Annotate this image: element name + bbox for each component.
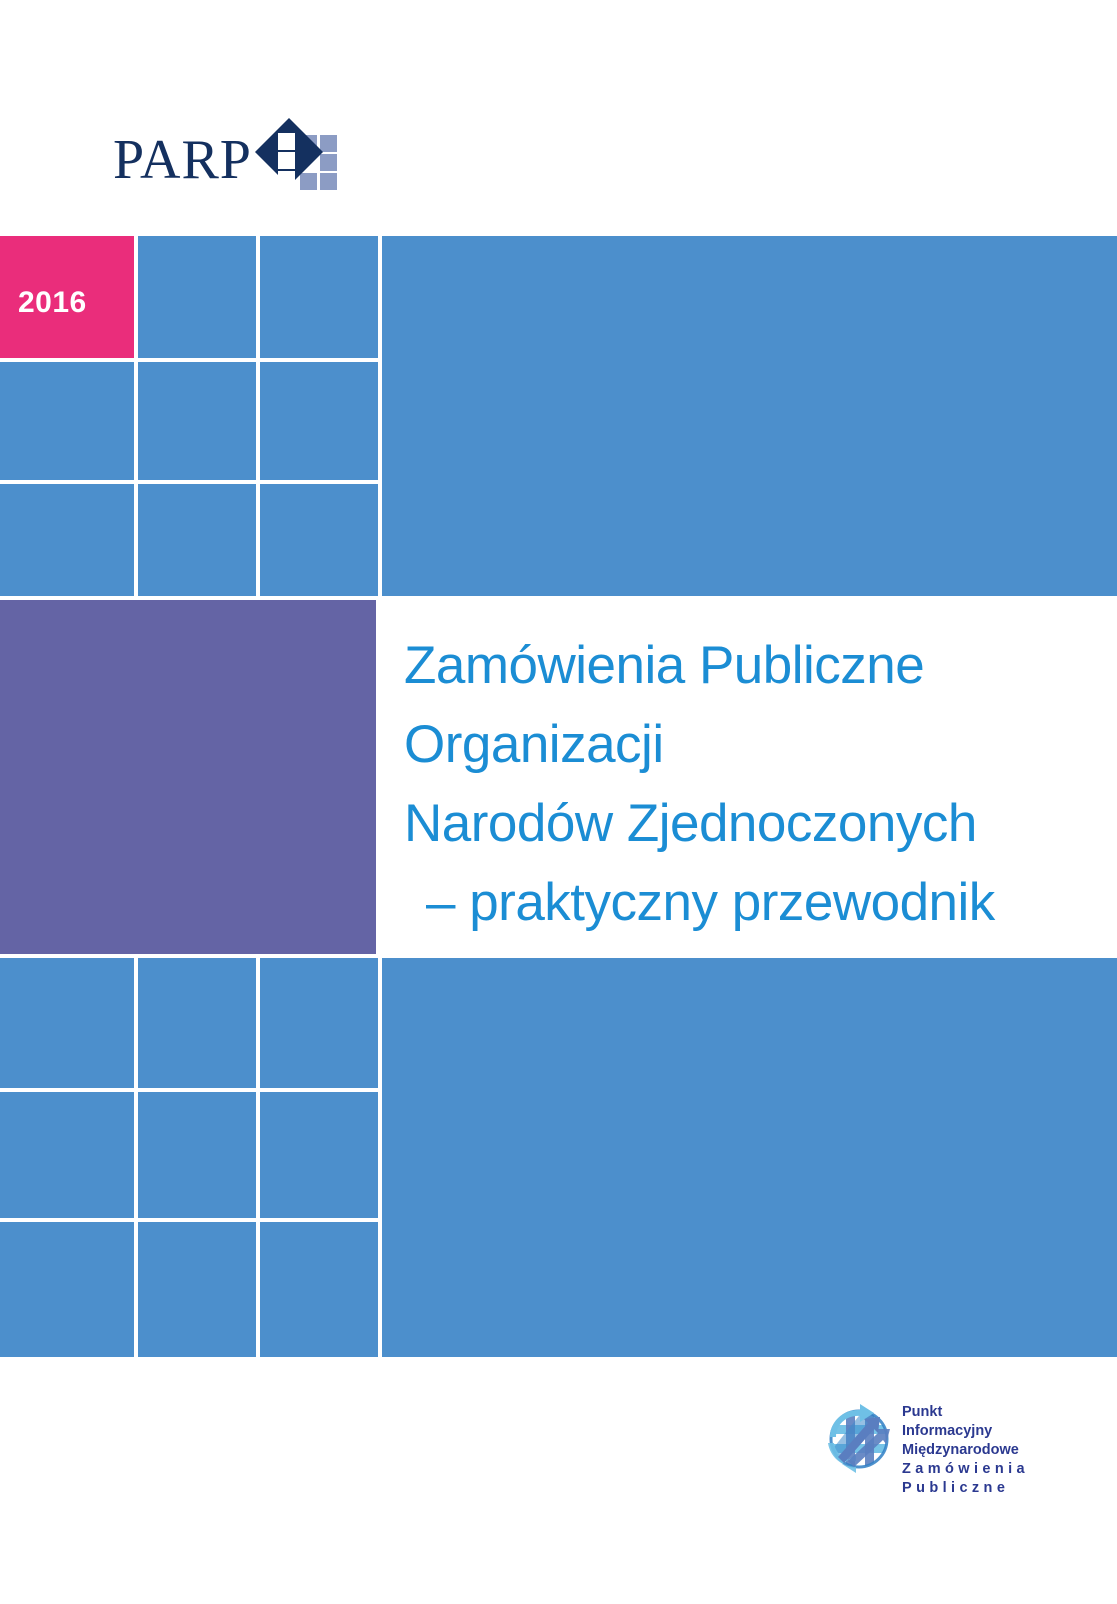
year-badge: 2016 (0, 236, 134, 358)
grid-line-vertical (378, 236, 382, 596)
title-line-4: – praktyczny przewodnik (404, 863, 1104, 942)
title-line-1: Zamówienia Publiczne (404, 626, 1104, 705)
cover-page: PARP (0, 0, 1117, 1604)
grid-line-vertical (134, 236, 138, 596)
footer-logo: Punkt Informacyjny Międzynarodowe Zamówi… (818, 1395, 1033, 1487)
title-block: Zamówienia Publiczne Organizacji Narodów… (380, 600, 1117, 954)
purple-accent-block (0, 600, 376, 954)
grid-line-vertical (134, 958, 138, 1357)
globe-arrows-icon (818, 1399, 894, 1475)
footer-logo-line-3: Zamówienia (902, 1460, 1033, 1479)
title-line-2: Organizacji (404, 705, 1104, 784)
grid-line-horizontal (0, 1088, 378, 1092)
footer-logo-line-2: Międzynarodowe (902, 1441, 1033, 1460)
title-line-3: Narodów Zjednoczonych (404, 784, 1104, 863)
footer-logo-text: Punkt Informacyjny Międzynarodowe Zamówi… (902, 1403, 1033, 1498)
top-tile-band (0, 236, 1117, 596)
grid-line-horizontal (0, 480, 378, 484)
grid-line-vertical (256, 236, 260, 596)
footer-logo-line-4: Publiczne (902, 1479, 1033, 1498)
bottom-tile-band (0, 958, 1117, 1357)
parp-wordmark: PARP (113, 132, 252, 188)
parp-logo: PARP (113, 112, 343, 204)
page-title: Zamówienia Publiczne Organizacji Narodów… (404, 626, 1104, 942)
grid-line-vertical (378, 958, 382, 1357)
grid-line-horizontal (0, 1218, 378, 1222)
grid-line-vertical (256, 958, 260, 1357)
grid-line-horizontal (0, 358, 378, 362)
year-badge-label: 2016 (18, 286, 87, 320)
parp-diamond-arrow-icon (253, 116, 339, 202)
footer-logo-line-1: Punkt Informacyjny (902, 1403, 1033, 1441)
